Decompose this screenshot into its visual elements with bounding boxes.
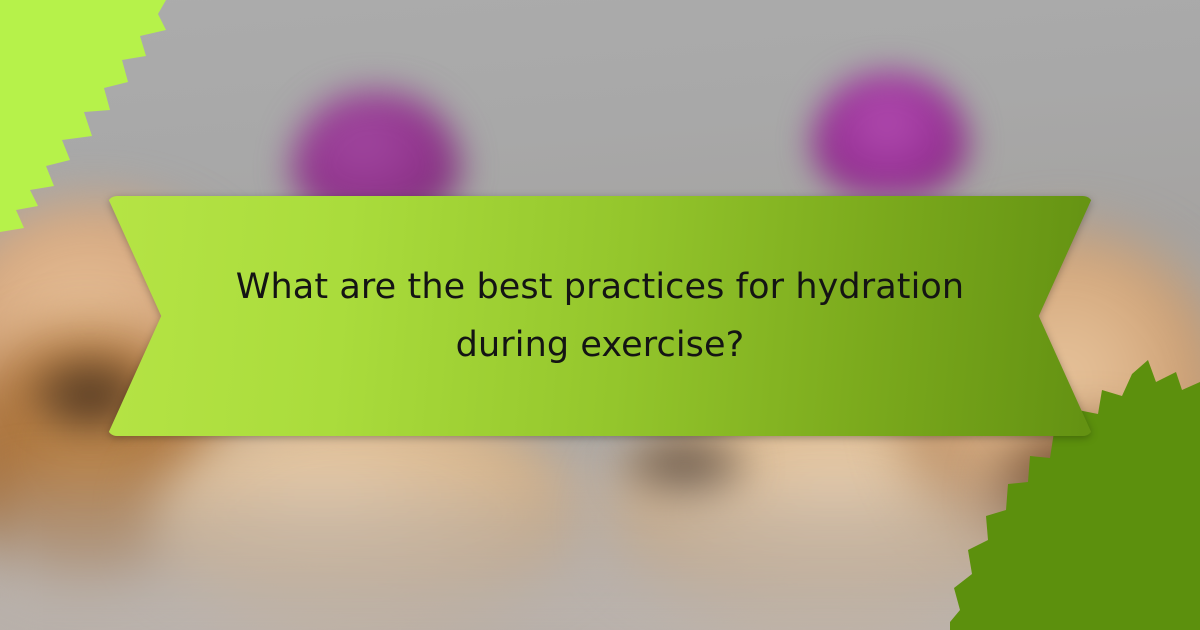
quote-line-1: What are the best practices for hydratio… [236, 259, 964, 315]
banner-text-block: What are the best practices for hydratio… [107, 196, 1093, 436]
quote-line-2: during exercise? [456, 317, 745, 373]
floor-haze [0, 450, 1200, 630]
quote-card: What are the best practices for hydratio… [0, 0, 1200, 630]
quote-banner: What are the best practices for hydratio… [107, 196, 1093, 436]
